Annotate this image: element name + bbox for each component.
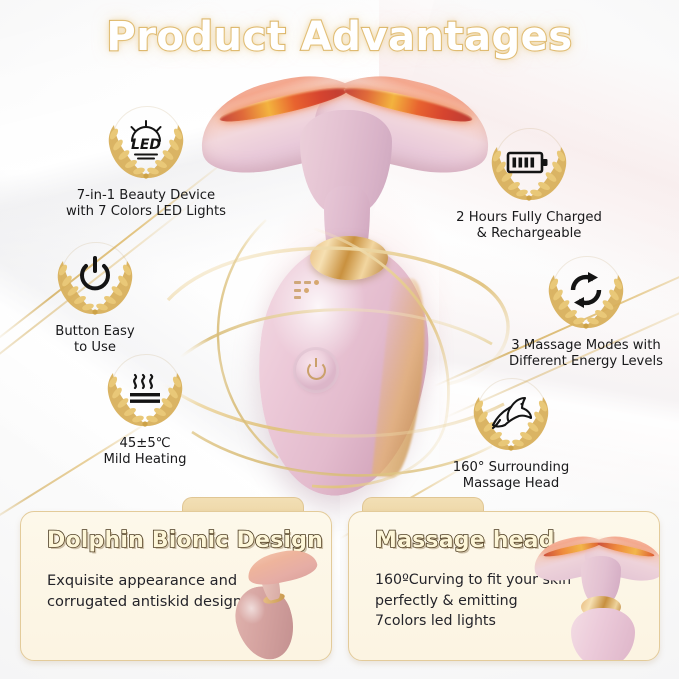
badge-heating: [97, 352, 193, 434]
feature-led-text: 7-in-1 Beauty Device with 7 Colors LED L…: [41, 188, 251, 220]
feature-battery: 2 Hours Fully Charged & Rechargeable: [424, 126, 634, 242]
badge-led: LED: [98, 104, 194, 186]
mini-head-body: [571, 608, 635, 661]
feature-battery-text: 2 Hours Fully Charged & Rechargeable: [424, 210, 634, 242]
card-dolphin-bionic-design: Dolphin Bionic Design Exquisite appearan…: [20, 511, 332, 661]
card-right-title: Massage head: [375, 528, 555, 553]
led-lamp-icon: LED: [98, 114, 194, 166]
feature-modes-line2: Different Energy Levels: [481, 354, 679, 370]
led-icon-label: LED: [131, 137, 161, 153]
heat-waves-icon: [97, 362, 193, 414]
feature-heating-text: 45±5℃ Mild Heating: [40, 436, 250, 468]
device-full-body-photo: [219, 546, 323, 658]
feature-battery-line1: 2 Hours Fully Charged: [424, 210, 634, 226]
feature-dolphin-text: 160° Surrounding Massage Head: [406, 460, 616, 492]
feature-led-line1: 7-in-1 Beauty Device: [41, 188, 251, 204]
feature-dolphin-line2: Massage Head: [406, 476, 616, 492]
badge-battery: [481, 126, 577, 208]
feature-dolphin-line1: 160° Surrounding: [406, 460, 616, 476]
device-massage-head-photo: [533, 524, 660, 661]
feature-dolphin-head: 160° Surrounding Massage Head: [406, 376, 616, 492]
dolphin-icon: [463, 386, 559, 438]
refresh-cycle-icon: [538, 264, 634, 316]
battery-full-icon: [481, 136, 577, 188]
badge-power: [47, 240, 143, 322]
page-title: Product Advantages: [0, 14, 679, 60]
feature-led: LED 7-in-1 Beauty Device with 7 Colors L…: [41, 104, 251, 220]
feature-led-line2: with 7 Colors LED Lights: [41, 204, 251, 220]
feature-button: Button Easy to Use: [0, 240, 200, 356]
feature-heating-line1: 45±5℃: [40, 436, 250, 452]
feature-button-line1: Button Easy: [0, 324, 200, 340]
feature-modes-text: 3 Massage Modes with Different Energy Le…: [481, 338, 679, 370]
card-massage-head: Massage head 160ºCurving to fit your ski…: [348, 511, 660, 661]
feature-battery-line2: & Rechargeable: [424, 226, 634, 242]
product-advantages-infographic: Product Advantages: [0, 0, 679, 679]
feature-massage-modes: 3 Massage Modes with Different Energy Le…: [481, 254, 679, 370]
feature-heating: 45±5℃ Mild Heating: [40, 352, 250, 468]
mini-device-head: [245, 545, 320, 589]
feature-modes-line1: 3 Massage Modes with: [481, 338, 679, 354]
badge-dolphin: [463, 376, 559, 458]
feature-heating-line2: Mild Heating: [40, 452, 250, 468]
power-button-icon: [47, 250, 143, 302]
badge-modes: [538, 254, 634, 336]
